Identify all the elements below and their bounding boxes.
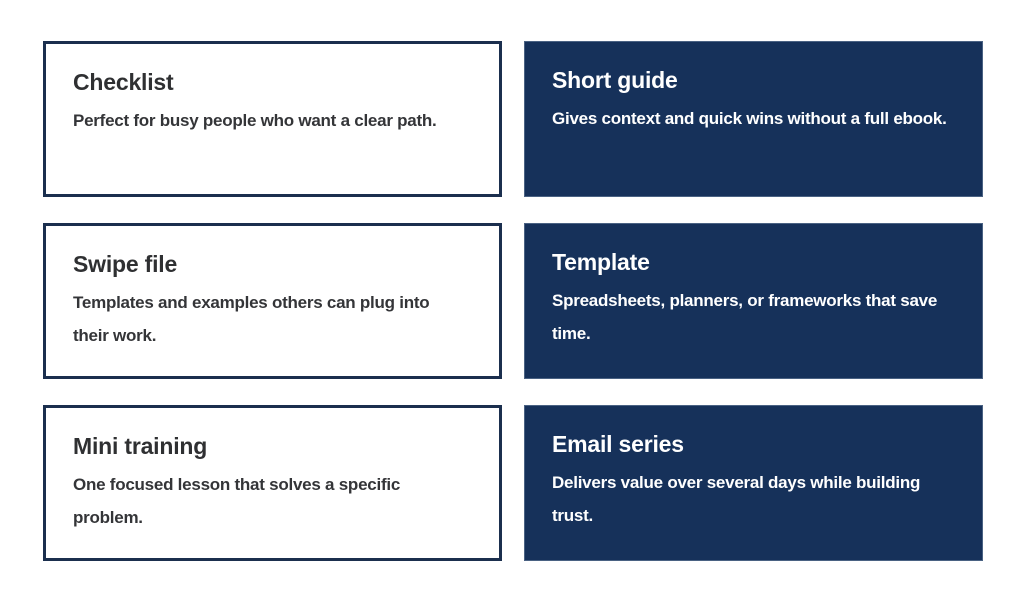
card-description: One focused lesson that solves a specifi…	[73, 468, 468, 534]
card-description: Gives context and quick wins without a f…	[552, 102, 947, 135]
card-email-series[interactable]: Email series Delivers value over several…	[524, 405, 983, 561]
card-title: Short guide	[552, 68, 956, 93]
card-description: Delivers value over several days while b…	[552, 466, 947, 532]
card-description: Templates and examples others can plug i…	[73, 286, 468, 352]
lead-magnet-card-grid: Checklist Perfect for busy people who wa…	[43, 41, 982, 561]
card-title: Mini training	[73, 434, 473, 459]
card-title: Checklist	[73, 70, 473, 95]
card-title: Swipe file	[73, 252, 473, 277]
card-checklist[interactable]: Checklist Perfect for busy people who wa…	[43, 41, 502, 197]
card-template[interactable]: Template Spreadsheets, planners, or fram…	[524, 223, 983, 379]
card-short-guide[interactable]: Short guide Gives context and quick wins…	[524, 41, 983, 197]
card-description: Spreadsheets, planners, or frameworks th…	[552, 284, 947, 350]
card-grid-board: Checklist Perfect for busy people who wa…	[0, 0, 1024, 597]
card-mini-training[interactable]: Mini training One focused lesson that so…	[43, 405, 502, 561]
card-description: Perfect for busy people who want a clear…	[73, 104, 468, 137]
card-title: Email series	[552, 432, 956, 457]
card-title: Template	[552, 250, 956, 275]
card-swipe-file[interactable]: Swipe file Templates and examples others…	[43, 223, 502, 379]
